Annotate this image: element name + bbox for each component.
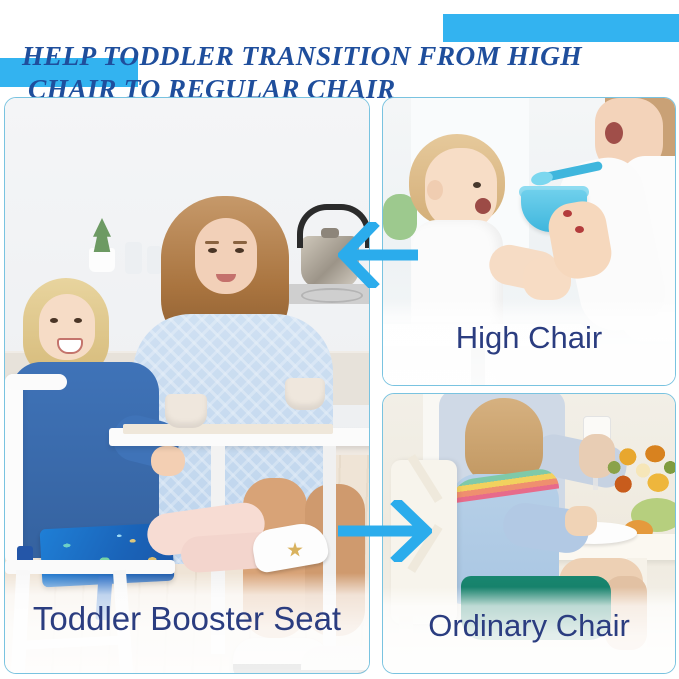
arrow-left-icon (338, 222, 418, 288)
caption-ordinary-chair: Ordinary Chair (383, 587, 675, 673)
caption-toddler-booster-seat: Toddler Booster Seat (5, 573, 369, 673)
panel-toddler-booster-seat[interactable]: Toddler Booster Seat (4, 97, 370, 674)
mug-icon (285, 378, 325, 410)
page-title-line-1: HELP TODDLER TRANSITION FROM HIGH (22, 40, 582, 71)
header: HELP TODDLER TRANSITION FROM HIGH CHAIR … (0, 0, 679, 95)
arrow-right-icon (338, 500, 432, 562)
mug-icon (165, 394, 207, 428)
infographic-root: HELP TODDLER TRANSITION FROM HIGH CHAIR … (0, 0, 679, 679)
panel-high-chair[interactable]: High Chair (382, 97, 676, 386)
caption-high-chair: High Chair (383, 299, 675, 385)
